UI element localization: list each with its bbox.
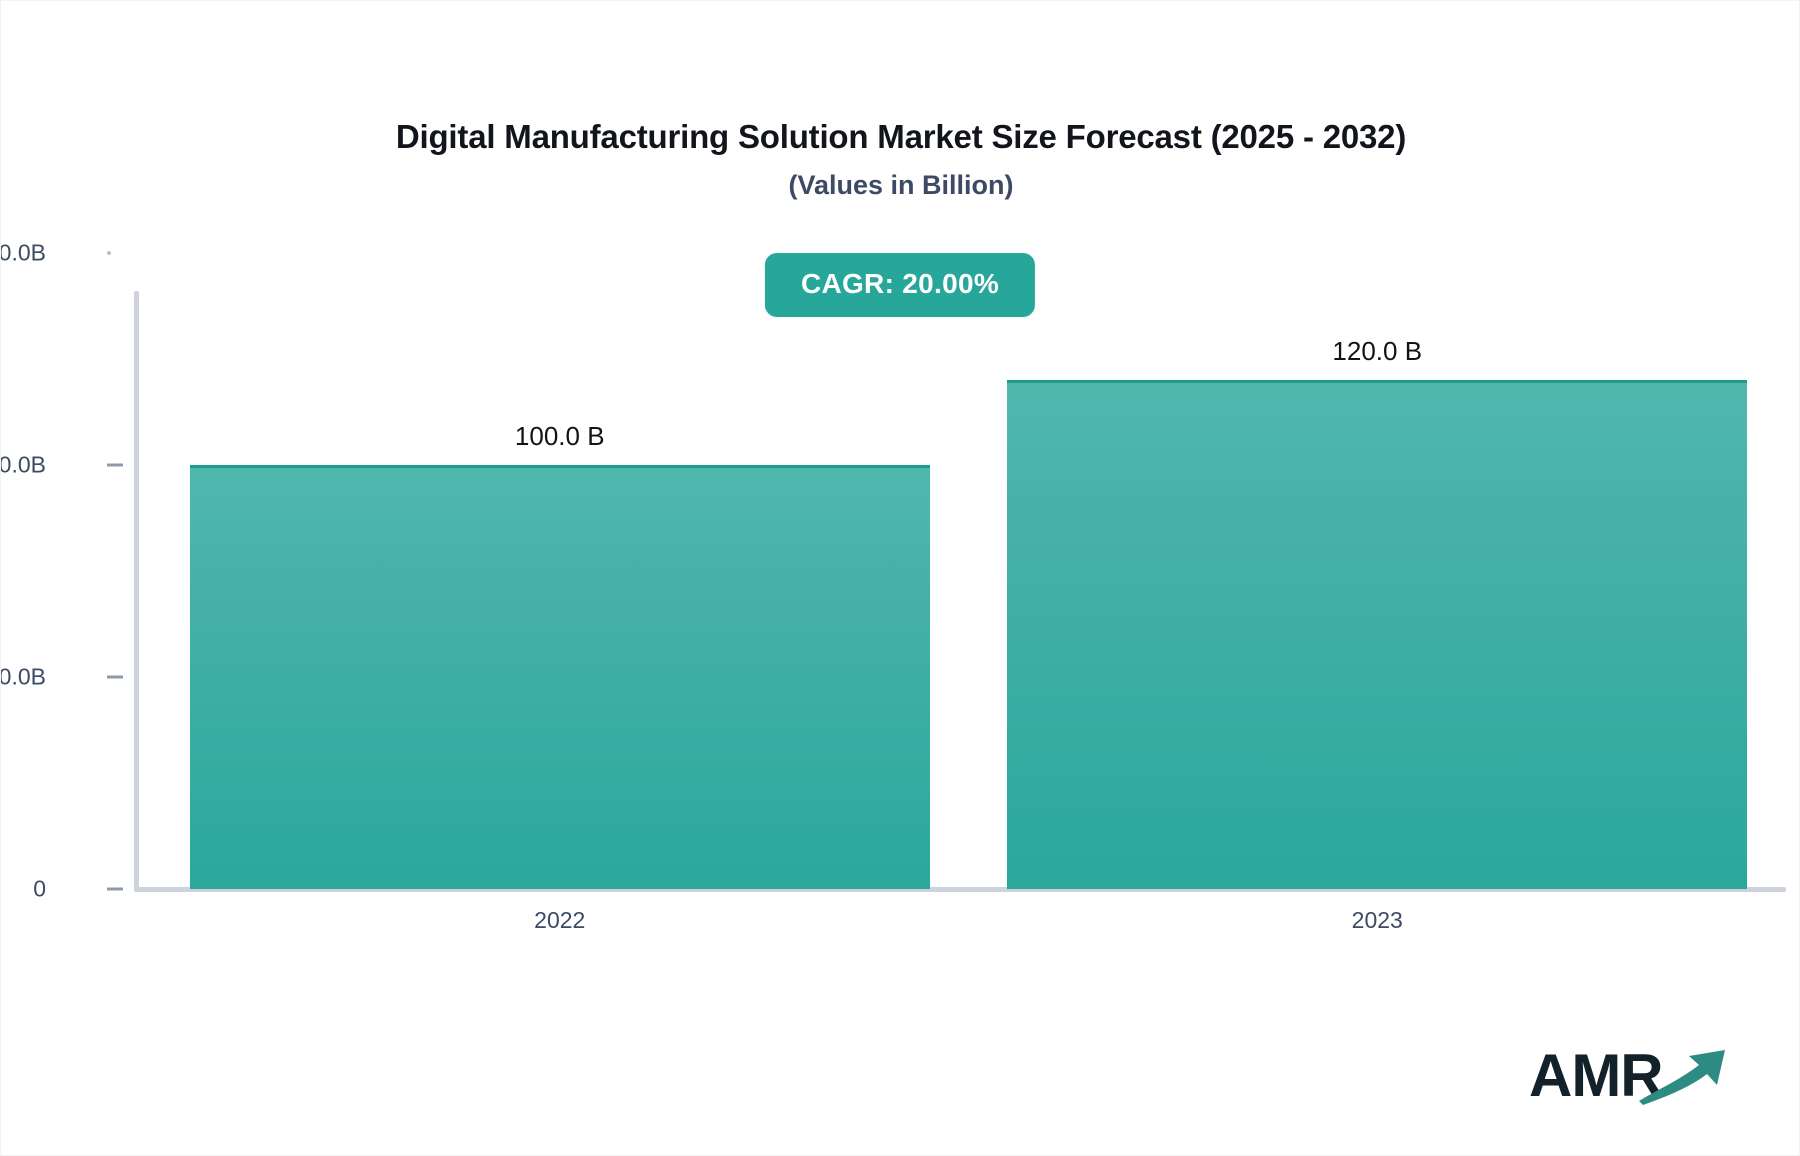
x-axis-tick-label: 2023 (1352, 907, 1403, 934)
growth-arrow-icon (1637, 1045, 1729, 1112)
y-axis-tick-label: 150.0B (0, 240, 46, 267)
chart-canvas: Digital Manufacturing Solution Market Si… (0, 0, 1800, 1156)
y-axis-tick-label: 100.0B (0, 452, 46, 479)
bar-value-label: 100.0 B (515, 421, 605, 452)
y-axis-tick-mark (107, 251, 111, 255)
y-axis-tick-mark (107, 888, 123, 891)
plot-area: 050.0B100.0B150.0B100.0 B2022120.0 B2023 (1, 1, 1800, 1156)
bar-2022[interactable] (190, 465, 930, 889)
bar-2023[interactable] (1007, 380, 1747, 889)
y-axis-line (134, 291, 139, 891)
y-axis-tick-mark (107, 464, 123, 467)
y-axis-tick-mark (107, 676, 123, 679)
amr-logo: AMR (1529, 1037, 1729, 1115)
y-axis-tick-label: 0 (0, 876, 46, 903)
bar-value-label: 120.0 B (1332, 336, 1422, 367)
y-axis-tick-label: 50.0B (0, 664, 46, 691)
x-axis-tick-label: 2022 (534, 907, 585, 934)
